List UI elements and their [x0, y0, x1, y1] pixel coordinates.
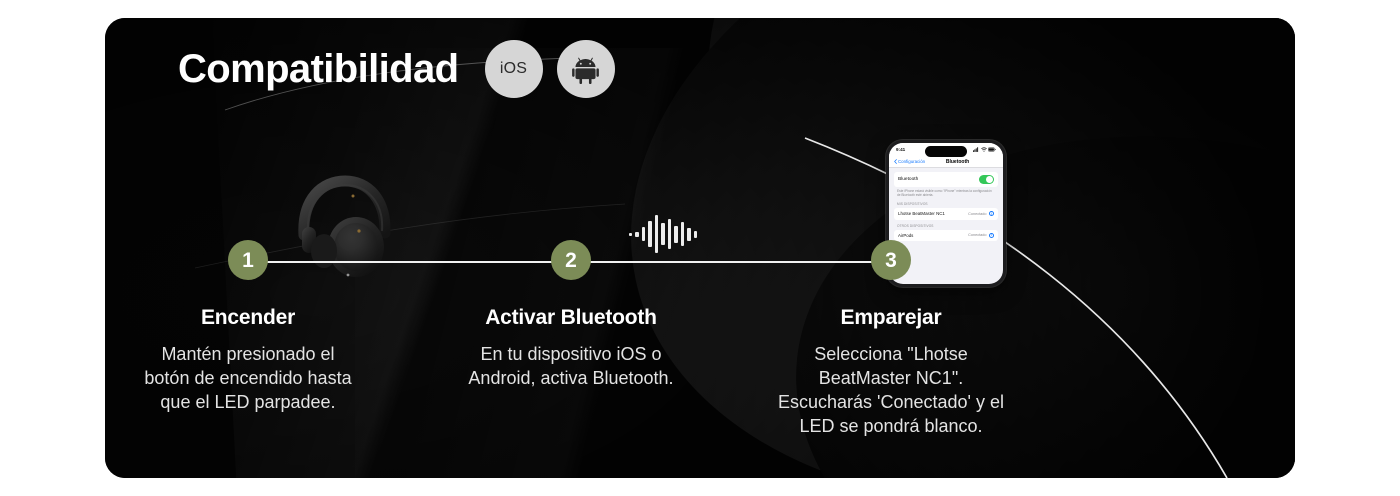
- step-number-badge: 3: [871, 240, 911, 280]
- step-item-2: 2 Activar Bluetooth En tu dispositivo iO…: [441, 240, 701, 391]
- step-item-1: 1 Encender Mantén presionado el botón de…: [118, 240, 378, 415]
- step-number-badge: 2: [551, 240, 591, 280]
- ios-badge[interactable]: iOS: [485, 40, 543, 98]
- step-number-badge: 1: [228, 240, 268, 280]
- card-header: Compatibilidad iOS: [178, 40, 615, 98]
- step-title: Encender: [201, 306, 295, 330]
- step-title: Emparejar: [841, 306, 942, 330]
- ios-badge-label: iOS: [500, 60, 527, 78]
- step-item-3: 3 Emparejar Selecciona "Lhotse BeatMaste…: [761, 240, 1021, 439]
- screenshot-root: Compatibilidad iOS: [0, 0, 1400, 496]
- step-title: Activar Bluetooth: [485, 306, 657, 330]
- compatibility-card: Compatibilidad iOS: [105, 18, 1295, 478]
- android-robot-icon: [572, 55, 599, 84]
- step-description: Mantén presionado el botón de encendido …: [137, 343, 359, 415]
- android-badge[interactable]: [557, 40, 615, 98]
- page-title: Compatibilidad: [178, 49, 459, 89]
- step-description: Selecciona "Lhotse BeatMaster NC1". Escu…: [772, 343, 1010, 439]
- step-description: En tu dispositivo iOS o Android, activa …: [460, 343, 682, 391]
- os-badge-group: iOS: [485, 40, 615, 98]
